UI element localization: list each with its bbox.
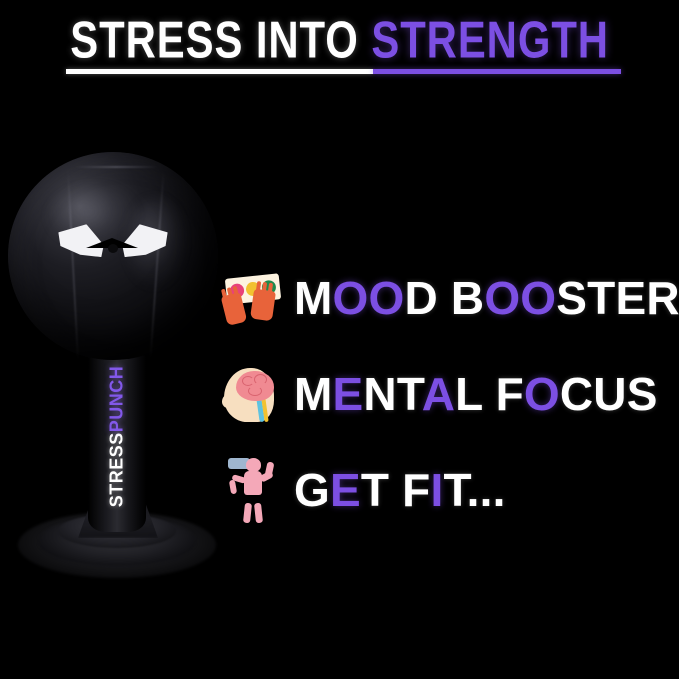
seg: D B (405, 272, 485, 324)
figure-leg-right (254, 503, 263, 524)
eye-center-gap (108, 244, 118, 253)
figure-forearm-left (229, 480, 237, 495)
seg: STER (556, 272, 679, 324)
feature-row-mental-focus: MENTAL FOCUS (218, 346, 679, 442)
feature-label-mental-focus: MENTAL FOCUS (294, 371, 658, 417)
seg: O (524, 368, 560, 420)
seg: T F (361, 464, 431, 516)
title-underline (66, 69, 621, 74)
promo-poster: STRESS INTO STRENGTH STRESSPUNCH (0, 0, 679, 679)
brain-fold (254, 374, 267, 385)
seg: CUS (560, 368, 658, 420)
bag-ball (8, 152, 218, 360)
page-title: STRESS INTO STRENGTH (0, 14, 679, 59)
seg: I (430, 464, 443, 516)
mood-card-icon (218, 262, 290, 334)
seg: E (330, 464, 361, 516)
brain-fold (242, 376, 254, 386)
brain-fold (248, 386, 262, 396)
flexing-figure-icon (218, 454, 290, 526)
head-nose (222, 394, 235, 408)
figure-head (246, 458, 261, 472)
feature-label-mood-booster: MOOD BOOSTER (294, 275, 679, 321)
feature-list: MOOD BOOSTER MENTAL FOCUS (218, 250, 679, 538)
figure-leg-left (243, 503, 252, 524)
seg: A (422, 368, 455, 420)
title-white-part: STRESS INTO (70, 11, 371, 70)
seg: M (294, 368, 333, 420)
seg: OO (484, 272, 556, 324)
seg: M (294, 272, 333, 324)
seg: G (294, 464, 330, 516)
feature-row-get-fit: GET FIT... (218, 442, 679, 538)
feature-row-mood-booster: MOOD BOOSTER (218, 250, 679, 346)
product-image-punching-bag: STRESSPUNCH (0, 140, 240, 600)
seg: NT (363, 368, 421, 420)
seg: L F (455, 368, 524, 420)
brain-head-icon (218, 358, 290, 430)
bag-shaft (88, 340, 146, 532)
underline-purple-segment (373, 69, 621, 74)
feature-label-get-fit: GET FIT... (294, 467, 506, 513)
title-purple-part: STRENGTH (371, 11, 609, 70)
figure-torso (244, 471, 262, 495)
ball-seam-top (74, 166, 158, 168)
mood-hand-right (250, 289, 276, 322)
seg: E (333, 368, 364, 420)
seg: OO (333, 272, 405, 324)
underline-white-segment (66, 69, 373, 74)
title-text: STRESS INTO STRENGTH (70, 14, 609, 66)
seg: T... (443, 464, 505, 516)
